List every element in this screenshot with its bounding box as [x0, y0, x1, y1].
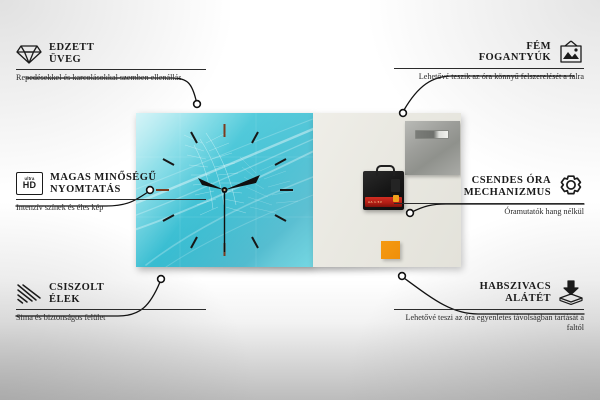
feature-title-line2: ÜVEG: [49, 54, 94, 66]
feature-rule: [394, 68, 584, 69]
feature-title-line1: MAGAS MINŐSÉGŰ: [50, 172, 156, 184]
feature-tempered-glass[interactable]: EDZETT ÜVEG Repedésekkel és karcolásokka…: [16, 42, 206, 83]
clock-hands: [198, 175, 260, 252]
feature-title-line1: EDZETT: [49, 42, 94, 54]
infographic-canvas: AA 1.5V: [0, 0, 600, 400]
arrow-onto-pad-icon: [558, 280, 584, 305]
diagonal-lines-icon: [16, 283, 42, 305]
ultra-hd-badge-icon: ultra HD: [16, 172, 43, 195]
battery-label: AA 1.5V: [368, 200, 382, 204]
feature-metal-handles[interactable]: FÉM FOGANTYÚK Lehetővé teszik az óra kön…: [394, 40, 584, 82]
feature-silent-mechanism[interactable]: CSENDES ÓRA MECHANIZMUS Óramutatók hang …: [394, 174, 584, 217]
feature-title-line1: FÉM: [479, 41, 551, 53]
metal-hanger-plate: [405, 121, 460, 175]
feature-title-line2: FOGANTYÚK: [479, 52, 551, 64]
feature-polished-edges[interactable]: CSISZOLT ÉLEK Sima és biztonságos felüle…: [16, 282, 206, 323]
feature-title-line2: ALÁTÉT: [480, 293, 551, 305]
foam-pad: [381, 241, 400, 259]
feature-description: Repedésekkel és karcolásokkal szemben el…: [16, 73, 206, 83]
feature-title-line1: HABSZIVACS: [480, 281, 551, 293]
feature-rule: [16, 69, 206, 70]
feature-description: Intenzív színek és éles kép: [16, 203, 206, 213]
feature-rule: [16, 199, 206, 200]
picture-hanger-icon: [558, 40, 584, 64]
feature-high-quality-print[interactable]: ultra HD MAGAS MINŐSÉGŰ NYOMTATÁS Intenz…: [16, 172, 206, 213]
hanging-loop: [376, 165, 395, 176]
feature-title-line2: NYOMTATÁS: [50, 184, 156, 196]
feature-description: Sima és biztonságos felület: [16, 313, 206, 323]
diamond-icon: [16, 43, 42, 65]
badge-bottom-label: HD: [23, 181, 36, 190]
feature-title-line2: ÉLEK: [49, 294, 104, 306]
hanger-slot: [415, 130, 449, 139]
feature-title-line2: MECHANIZMUS: [464, 187, 551, 199]
feature-foam-pad[interactable]: HABSZIVACS ALÁTÉT Lehetővé teszi az óra …: [394, 280, 584, 333]
feature-title-line1: CSENDES ÓRA: [464, 175, 551, 187]
feature-rule: [394, 203, 584, 204]
feature-description: Óramutatók hang nélkül: [394, 207, 584, 217]
feature-description: Lehetővé teszik az óra könnyű felszerelé…: [394, 72, 584, 82]
feature-rule: [394, 309, 584, 310]
feature-rule: [16, 309, 206, 310]
feature-description: Lehetővé teszi az óra egyenletes távolsá…: [394, 313, 584, 333]
gear-icon: [558, 174, 584, 199]
feature-title-line1: CSISZOLT: [49, 282, 104, 294]
